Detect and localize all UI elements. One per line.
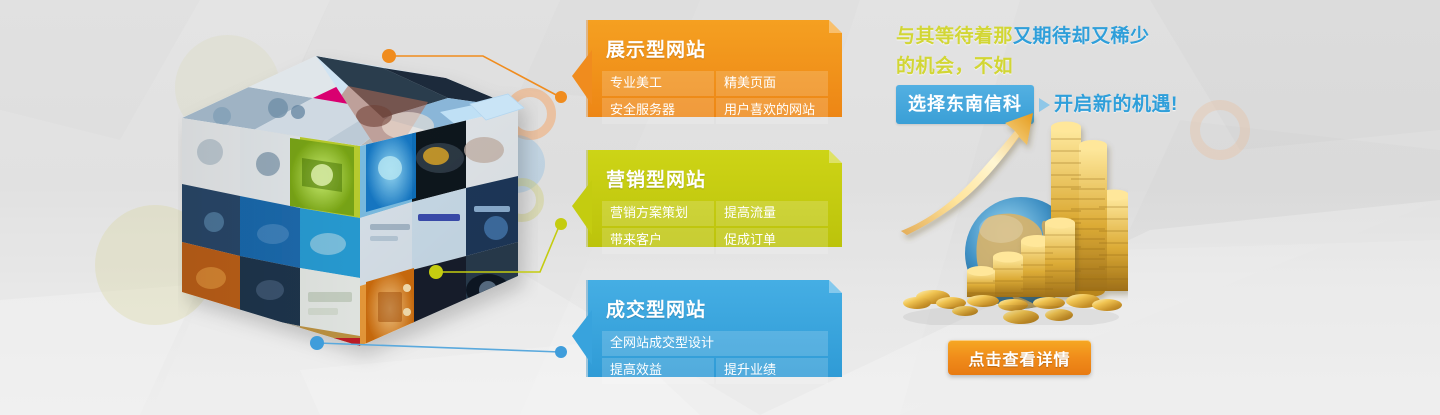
card-tag[interactable]: 促成订单 — [716, 228, 828, 253]
view-details-button[interactable]: 点击查看详情 — [948, 340, 1091, 375]
headline-line-2: 的机会，不如 — [896, 52, 1196, 82]
decor-ring-orange-right — [1190, 100, 1250, 160]
card-tag-row: 专业美工 精美页面 — [602, 71, 828, 96]
card-showcase-website[interactable]: 展示型网站 专业美工 精美页面 安全服务器 用户喜欢的网站 — [586, 20, 844, 140]
card-tag[interactable]: 安全服务器 — [602, 98, 714, 123]
card-tag-row: 营销方案策划 提高流量 — [602, 201, 828, 226]
card-title: 营销型网站 — [606, 165, 828, 192]
card-pointer-green — [572, 180, 592, 235]
globe-coins-artwork — [893, 105, 1128, 325]
card-tag-row: 带来客户 促成订单 — [602, 228, 828, 253]
card-tag[interactable]: 用户喜欢的网站 — [716, 98, 828, 123]
card-tag[interactable]: 提高流量 — [716, 201, 828, 226]
card-marketing-website[interactable]: 营销型网站 营销方案策划 提高流量 带来客户 促成订单 — [586, 150, 844, 270]
card-tag[interactable]: 专业美工 — [602, 71, 714, 96]
card-tag-row: 提高效益 提升业绩 — [602, 358, 828, 383]
headline-blue-1: 又期待却又稀少 — [1013, 26, 1150, 47]
card-pointer-blue — [572, 310, 592, 365]
card-tag-row: 安全服务器 用户喜欢的网站 — [602, 98, 828, 123]
card-tag-row: 全网站成交型设计 — [602, 331, 828, 356]
card-tag[interactable]: 营销方案策划 — [602, 201, 714, 226]
card-title: 成交型网站 — [606, 295, 828, 322]
promo-banner: 展示型网站 专业美工 精美页面 安全服务器 用户喜欢的网站 — [0, 0, 1440, 415]
photo-cube — [178, 46, 538, 376]
card-conversion-website[interactable]: 成交型网站 全网站成交型设计 提高效益 提升业绩 — [586, 280, 844, 400]
card-pointer-orange — [572, 50, 592, 105]
headline-olive-1: 与其等待着那 — [896, 26, 1013, 47]
card-tag[interactable]: 提高效益 — [602, 358, 714, 383]
card-tag[interactable]: 带来客户 — [602, 228, 714, 253]
card-tag[interactable]: 精美页面 — [716, 71, 828, 96]
headline-line-1: 与其等待着那又期待却又稀少 — [896, 22, 1196, 52]
card-tag[interactable]: 全网站成交型设计 — [602, 331, 828, 356]
card-tag[interactable]: 提升业绩 — [716, 358, 828, 383]
card-title: 展示型网站 — [606, 35, 828, 62]
